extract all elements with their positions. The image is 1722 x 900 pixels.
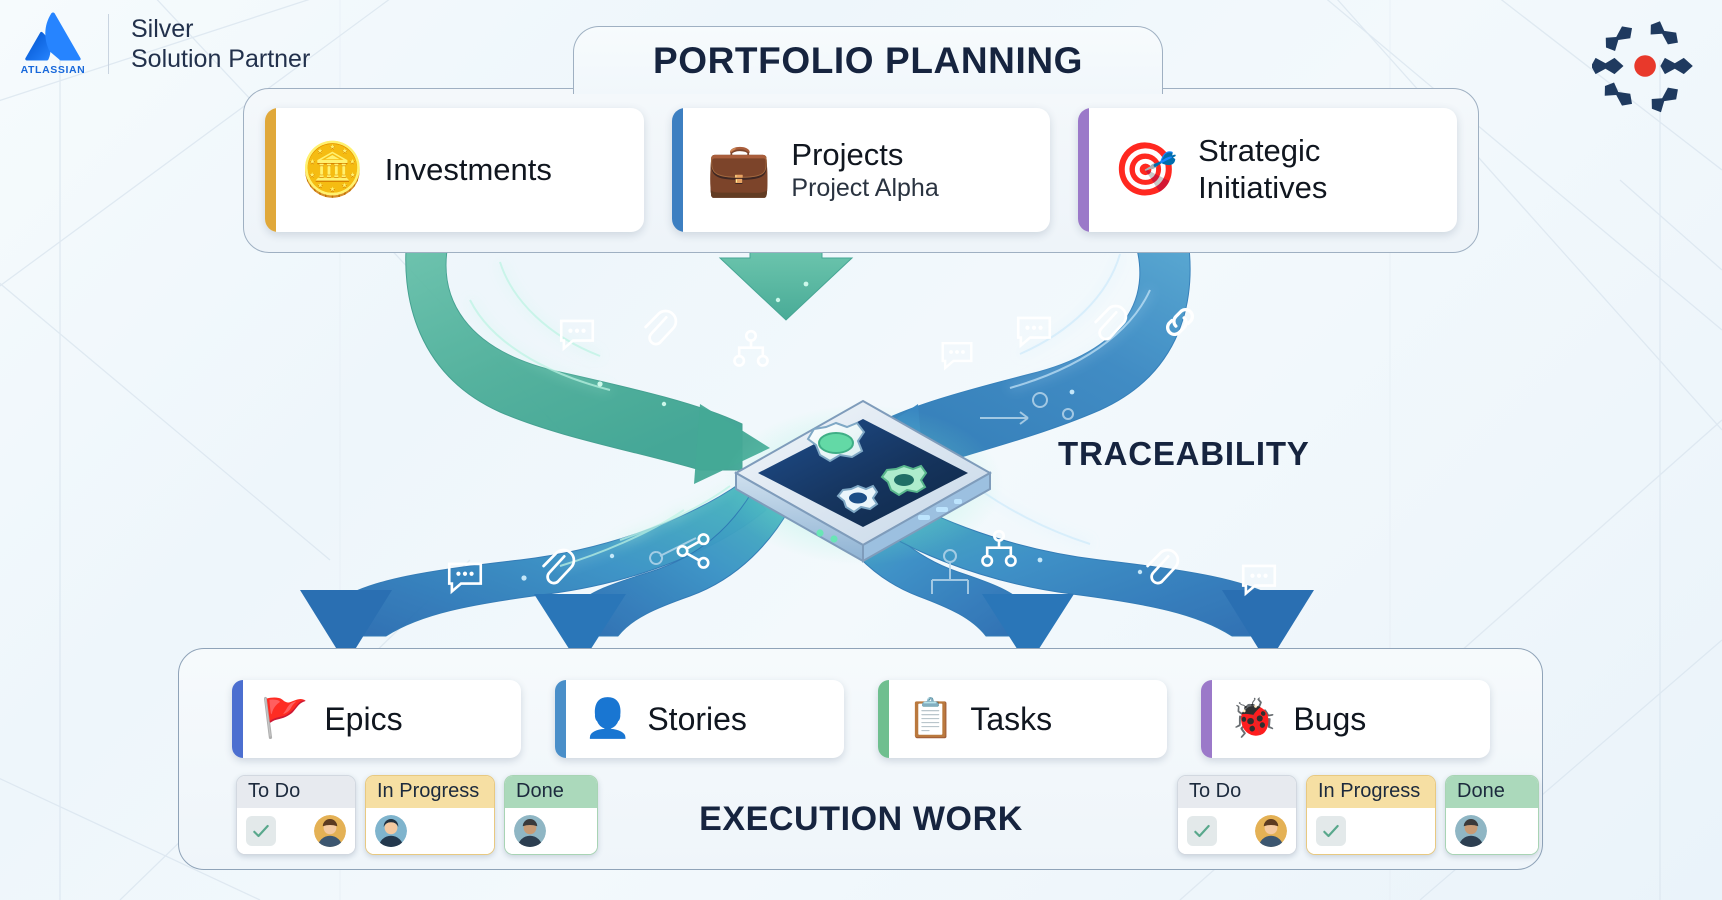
avatar — [1255, 815, 1287, 847]
kanban-column-header: In Progress — [366, 776, 494, 808]
paperclip-icon — [534, 544, 578, 588]
card-title: Tasks — [970, 701, 1052, 738]
comment-icon — [556, 313, 598, 355]
avatar — [514, 815, 546, 847]
checklist-icon: 📋 — [907, 700, 954, 738]
execution-card-row: 🚩 Epics 👤 Stories 📋 Tasks 🐞 Bugs — [232, 678, 1490, 760]
portfolio-card-row: 🪙 Investments 💼 Projects Project Alpha 🎯… — [243, 95, 1479, 245]
kanban-column-done[interactable]: Done — [1445, 775, 1539, 855]
kanban-group-left: To Do In Progress Done — [236, 775, 598, 855]
network-hub-logo — [1592, 12, 1700, 120]
person-icon: 👤 — [584, 700, 631, 738]
portfolio-card-investments[interactable]: 🪙 Investments — [265, 108, 644, 232]
briefcase-icon: 💼 — [707, 144, 772, 196]
card-title: Strategic Initiatives — [1198, 133, 1327, 206]
work-card-stories[interactable]: 👤 Stories — [555, 680, 844, 758]
accent-bar — [265, 108, 276, 232]
kanban-card[interactable] — [237, 808, 355, 854]
kanban-column-in-progress[interactable]: In Progress — [1306, 775, 1436, 855]
accent-bar — [672, 108, 683, 232]
atlassian-logo: ATLASSIAN — [20, 12, 86, 76]
kanban-column-header: Done — [505, 776, 597, 808]
portfolio-planning-title-tab: PORTFOLIO PLANNING — [573, 26, 1163, 94]
work-card-tasks[interactable]: 📋 Tasks — [878, 680, 1167, 758]
accent-bar — [1201, 680, 1212, 758]
portfolio-card-strategic-initiatives[interactable]: 🎯 Strategic Initiatives — [1078, 108, 1457, 232]
kanban-card[interactable] — [366, 808, 494, 854]
gears-device-icon — [718, 375, 1008, 565]
check-icon — [1187, 816, 1217, 846]
hierarchy-icon — [730, 328, 772, 370]
work-card-epics[interactable]: 🚩 Epics — [232, 680, 521, 758]
accent-bar — [555, 680, 566, 758]
bug-icon: 🐞 — [1230, 700, 1277, 738]
brand-header: ATLASSIAN Silver Solution Partner — [20, 12, 310, 76]
comment-icon — [444, 556, 486, 598]
card-title: Investments — [385, 152, 552, 189]
card-title: Epics — [324, 701, 402, 738]
kanban-card[interactable] — [1446, 808, 1538, 854]
share-icon — [672, 530, 714, 572]
kanban-column-todo[interactable]: To Do — [236, 775, 356, 855]
target-dart-icon: 🎯 — [1113, 144, 1178, 196]
atlassian-wordmark: ATLASSIAN — [21, 64, 86, 76]
traceability-label: TRACEABILITY — [1058, 435, 1310, 473]
accent-bar — [232, 680, 243, 758]
card-subtitle: Project Alpha — [791, 173, 938, 203]
avatar — [375, 815, 407, 847]
avatar — [1455, 815, 1487, 847]
partner-tier-label: Silver Solution Partner — [131, 14, 310, 75]
kanban-card[interactable] — [1307, 808, 1435, 854]
infographic-canvas: ATLASSIAN Silver Solution Partner — [0, 0, 1722, 900]
paperclip-icon — [1086, 300, 1130, 344]
portfolio-card-projects[interactable]: 💼 Projects Project Alpha — [672, 108, 1051, 232]
paperclip-icon — [1138, 544, 1182, 588]
accent-bar — [1078, 108, 1089, 232]
kanban-column-header: To Do — [1178, 776, 1296, 808]
kanban-column-header: Done — [1446, 776, 1538, 808]
link-icon — [1158, 300, 1202, 344]
brand-divider — [108, 14, 109, 74]
paperclip-icon — [636, 305, 680, 349]
card-title: Bugs — [1293, 701, 1366, 738]
card-title: Projects — [791, 137, 938, 174]
kanban-card[interactable] — [505, 808, 597, 854]
kanban-column-done[interactable]: Done — [504, 775, 598, 855]
comment-icon — [1238, 558, 1280, 600]
avatar — [314, 815, 346, 847]
kanban-group-right: To Do In Progress Done — [1177, 775, 1539, 855]
check-icon — [246, 816, 276, 846]
work-card-bugs[interactable]: 🐞 Bugs — [1201, 680, 1490, 758]
kanban-column-header: To Do — [237, 776, 355, 808]
coins-icon: 🪙 — [300, 144, 365, 196]
comment-icon — [938, 336, 976, 374]
accent-bar — [878, 680, 889, 758]
comment-icon — [1013, 310, 1055, 352]
kanban-column-header: In Progress — [1307, 776, 1435, 808]
page-title: PORTFOLIO PLANNING — [653, 40, 1083, 82]
kanban-column-in-progress[interactable]: In Progress — [365, 775, 495, 855]
kanban-card[interactable] — [1178, 808, 1296, 854]
check-icon — [1316, 816, 1346, 846]
card-title: Stories — [647, 701, 747, 738]
kanban-column-todo[interactable]: To Do — [1177, 775, 1297, 855]
flag-icon: 🚩 — [261, 700, 308, 738]
